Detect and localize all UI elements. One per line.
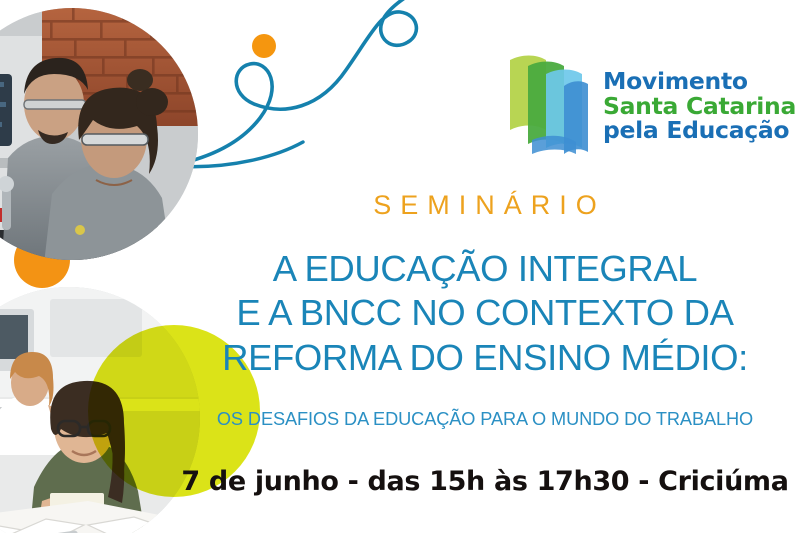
- photo-workshop-students: [0, 8, 198, 260]
- logo-line-pela-educacao: pela Educação: [603, 118, 796, 142]
- orange-circle-small: [252, 34, 276, 58]
- event-date-line: 7 de junho - das 15h às 17h30 - Criciúma: [175, 466, 795, 497]
- logo-line-santa-catarina: Santa Catarina: [603, 94, 796, 118]
- movimento-santa-catarina-logo[interactable]: Movimento Santa Catarina pela Educação: [502, 52, 796, 160]
- event-kicker: SEMINÁRIO: [175, 190, 795, 221]
- seminar-poster: Movimento Santa Catarina pela Educação S…: [0, 0, 800, 533]
- logo-line-movimento: Movimento: [603, 69, 796, 93]
- poster-text-block: SEMINÁRIO A EDUCAÇÃO INTEGRAL E A BNCC N…: [175, 190, 795, 497]
- poster-subtitle: OS DESAFIOS DA EDUCAÇÃO PARA O MUNDO DO …: [175, 409, 795, 430]
- photo-classroom-group: [0, 287, 200, 533]
- logo-wordmark: Movimento Santa Catarina pela Educação: [603, 69, 796, 142]
- page-title: A EDUCAÇÃO INTEGRAL E A BNCC NO CONTEXTO…: [175, 247, 795, 380]
- book-pages-logo-mark: [502, 52, 594, 160]
